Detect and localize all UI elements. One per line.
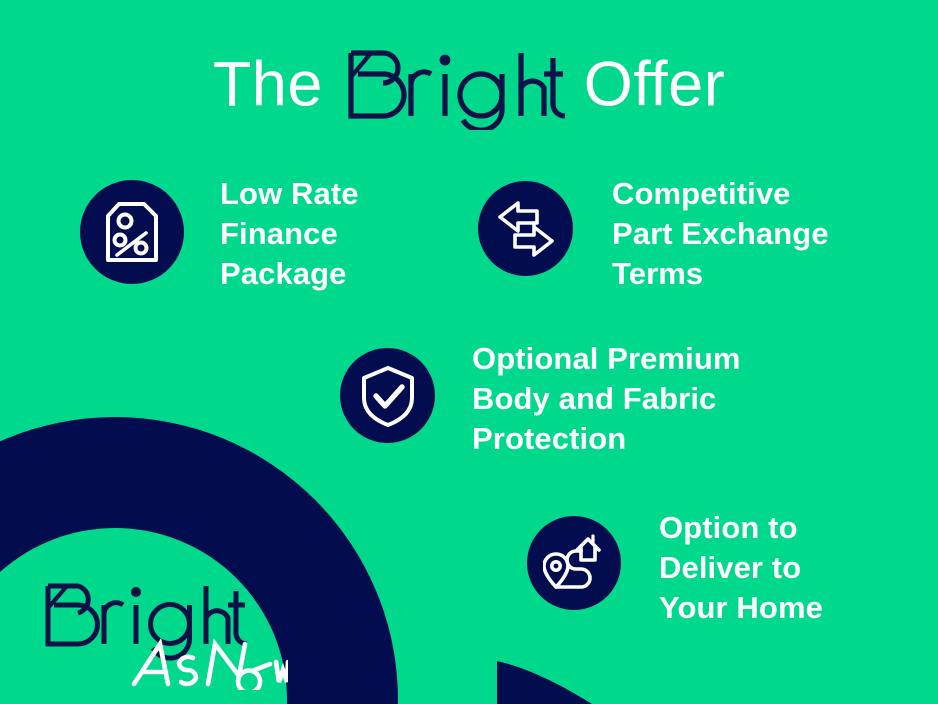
feature-label: Option to Deliver to Your Home xyxy=(659,508,823,628)
feature-item-part-exchange[interactable]: Competitive Part Exchange Terms xyxy=(478,181,829,294)
feature-label: Optional Premium Body and Fabric Protect… xyxy=(472,339,741,459)
feature-icon-badge xyxy=(527,516,621,610)
page-title: The xyxy=(0,42,938,128)
brand-secondary-wordmark xyxy=(134,644,288,690)
feature-item-low-rate-finance[interactable]: Low Rate Finance Package xyxy=(80,180,359,294)
title-word-offer: Offer xyxy=(584,50,725,120)
bright-wordmark-title xyxy=(339,44,567,130)
feature-label: Low Rate Finance Package xyxy=(220,174,359,294)
feature-icon-badge xyxy=(340,348,435,443)
title-word-the: The xyxy=(213,50,323,120)
feature-label: Competitive Part Exchange Terms xyxy=(612,174,829,294)
price-tag-percent-icon xyxy=(102,200,162,264)
delivery-route-home-icon xyxy=(543,533,605,593)
feature-icon-badge xyxy=(80,180,184,284)
brand-logo-lockup[interactable] xyxy=(38,578,288,690)
feature-icon-badge xyxy=(478,181,573,276)
poster-canvas: The xyxy=(0,0,938,704)
navy-wedge-shape xyxy=(497,661,592,704)
feature-item-body-fabric-protection[interactable]: Optional Premium Body and Fabric Protect… xyxy=(340,348,741,459)
shield-check-icon xyxy=(360,365,416,427)
exchange-arrows-icon xyxy=(496,200,556,258)
feature-item-home-delivery[interactable]: Option to Deliver to Your Home xyxy=(527,516,823,628)
